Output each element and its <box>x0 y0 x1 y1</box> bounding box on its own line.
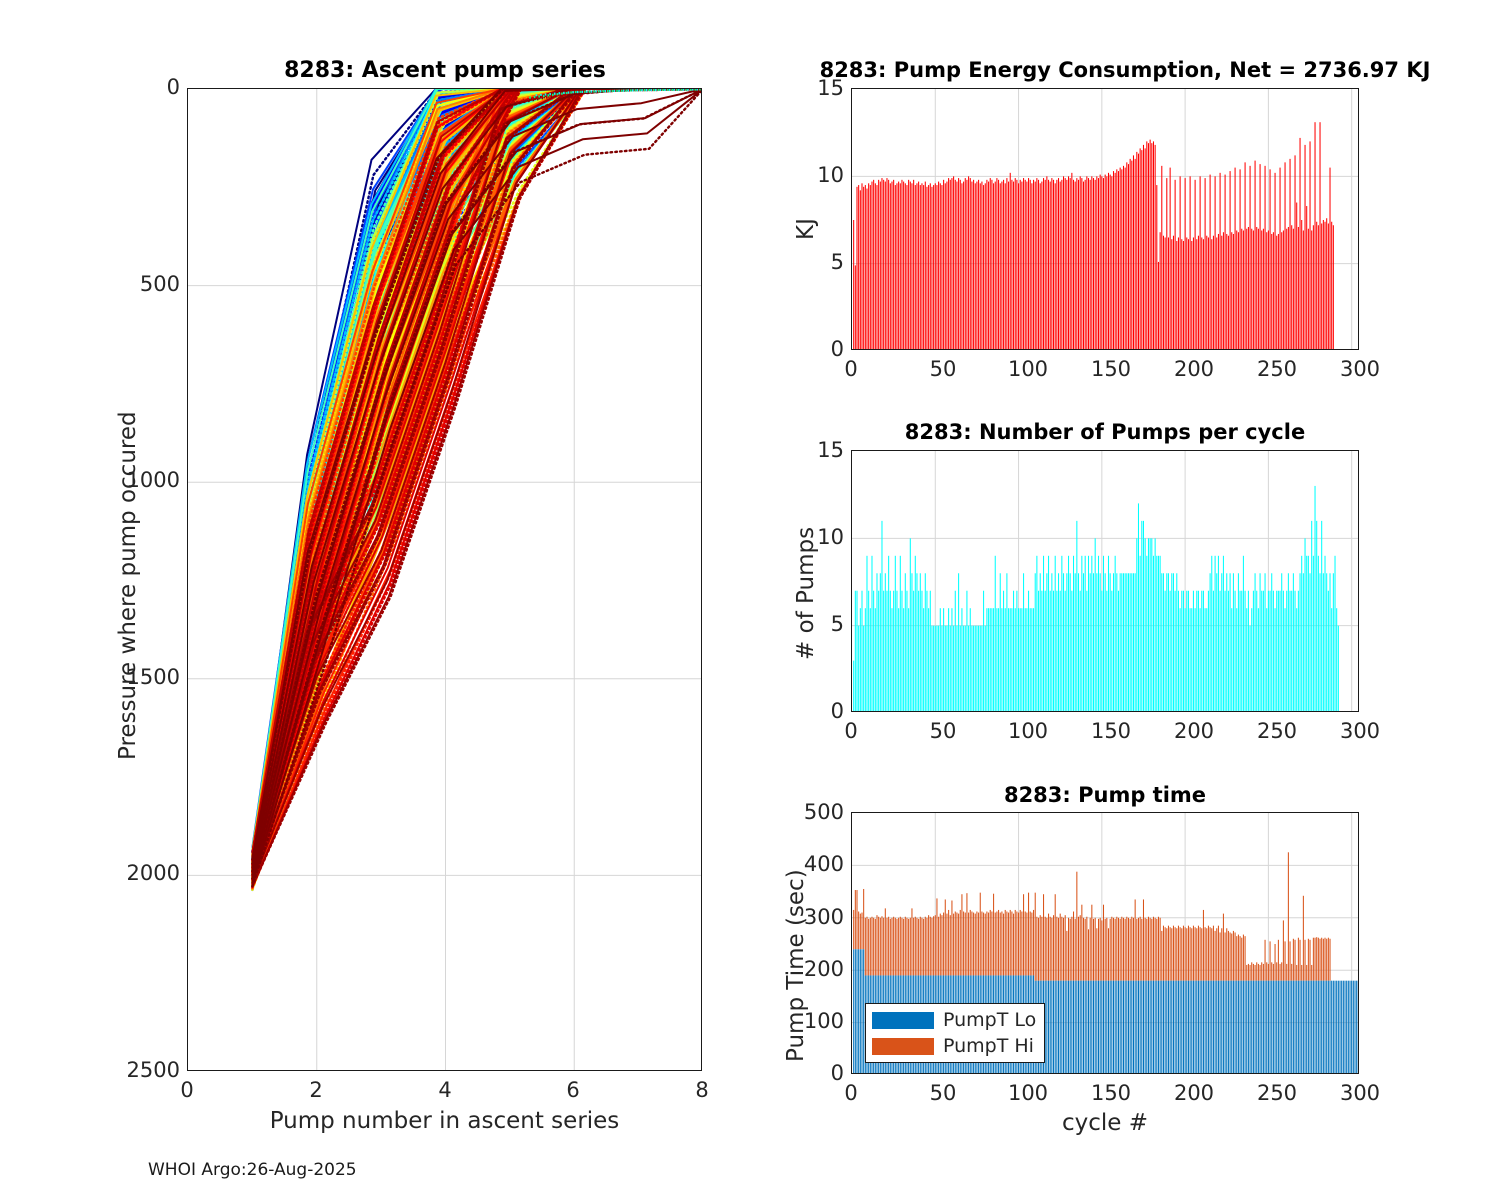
numpumps-xtick-0: 0 <box>836 719 866 743</box>
numpumps-xtick-150: 150 <box>1086 719 1136 743</box>
legend-label-pumpt-lo: PumpT Lo <box>943 1009 1036 1031</box>
numpumps-bars-svg <box>852 451 1359 712</box>
energy-ytick-5: 5 <box>796 250 844 274</box>
energy-xtick-150: 150 <box>1086 357 1136 381</box>
ascent-ytick-2000: 2000 <box>118 861 180 885</box>
numpumps-xtick-200: 200 <box>1169 719 1219 743</box>
ascent-plotbox <box>187 88 702 1071</box>
pumptime-ytick-500: 500 <box>786 800 844 824</box>
ascent-xlabel: Pump number in ascent series <box>187 1108 702 1134</box>
ascent-ylabel: Pressure where pump occured <box>115 411 141 760</box>
energy-ytick-10: 10 <box>796 163 844 187</box>
energy-title: 8283: Pump Energy Consumption, Net = 273… <box>760 58 1490 82</box>
ascent-title: 8283: Ascent pump series <box>185 58 705 83</box>
numpumps-xtick-100: 100 <box>1003 719 1053 743</box>
pumptime-xlabel: cycle # <box>851 1110 1359 1136</box>
energy-xtick-0: 0 <box>836 357 866 381</box>
numpumps-ylabel: # of Pumps <box>793 527 819 660</box>
energy-plotbox <box>851 88 1359 350</box>
energy-xtick-250: 250 <box>1252 357 1302 381</box>
numpumps-title: 8283: Number of Pumps per cycle <box>851 420 1359 444</box>
pumptime-xtick-150: 150 <box>1086 1081 1136 1105</box>
legend-item-pumpt-lo[interactable]: PumpT Lo <box>872 1009 1036 1031</box>
pumptime-xtick-250: 250 <box>1252 1081 1302 1105</box>
legend-swatch-pumpt-lo <box>872 1012 934 1029</box>
pumptime-xtick-100: 100 <box>1003 1081 1053 1105</box>
pumptime-xtick-50: 50 <box>923 1081 963 1105</box>
energy-bars-svg <box>852 89 1359 350</box>
pumptime-ylabel: Pump Time (sec) <box>783 869 809 1062</box>
pumptime-legend[interactable]: PumpT Lo PumpT Hi <box>865 1003 1045 1063</box>
legend-swatch-pumpt-hi <box>872 1038 934 1055</box>
pumptime-title: 8283: Pump time <box>851 783 1359 807</box>
numpumps-xtick-250: 250 <box>1252 719 1302 743</box>
footer-credit: WHOI Argo:26-Aug-2025 <box>148 1160 357 1180</box>
numpumps-xtick-300: 300 <box>1335 719 1385 743</box>
ascent-xtick-4: 4 <box>430 1078 460 1102</box>
ascent-ytick-2500: 2500 <box>118 1058 180 1082</box>
energy-xtick-200: 200 <box>1169 357 1219 381</box>
ascent-xtick-0: 0 <box>172 1078 202 1102</box>
ascent-xtick-8: 8 <box>687 1078 717 1102</box>
pumptime-xtick-300: 300 <box>1335 1081 1385 1105</box>
energy-xtick-100: 100 <box>1003 357 1053 381</box>
numpumps-plotbox <box>851 450 1359 712</box>
energy-ytick-15: 15 <box>796 76 844 100</box>
ascent-lines-svg <box>188 89 702 1071</box>
energy-xtick-300: 300 <box>1335 357 1385 381</box>
numpumps-xtick-50: 50 <box>923 719 963 743</box>
ascent-ytick-500: 500 <box>118 272 180 296</box>
figure-canvas: 8283: Ascent pump series 0 500 1000 1500… <box>0 0 1500 1200</box>
energy-xtick-50: 50 <box>923 357 963 381</box>
ascent-ytick-0: 0 <box>118 75 180 99</box>
pumptime-xtick-200: 200 <box>1169 1081 1219 1105</box>
ascent-xtick-6: 6 <box>558 1078 588 1102</box>
legend-item-pumpt-hi[interactable]: PumpT Hi <box>872 1035 1036 1057</box>
pumptime-xtick-0: 0 <box>836 1081 866 1105</box>
numpumps-ytick-15: 15 <box>796 438 844 462</box>
energy-ylabel: KJ <box>793 218 819 240</box>
legend-label-pumpt-hi: PumpT Hi <box>943 1035 1034 1057</box>
ascent-xtick-2: 2 <box>301 1078 331 1102</box>
